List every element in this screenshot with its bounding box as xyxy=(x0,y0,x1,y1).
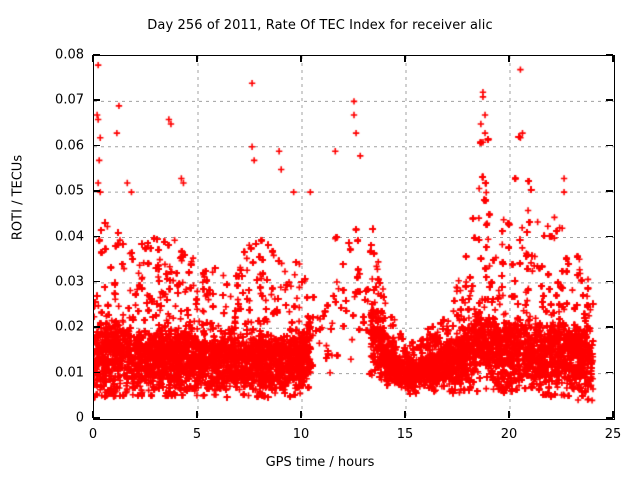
rot-index-scatter-chart: Day 256 of 2011, Rate Of TEC Index for r… xyxy=(0,0,640,480)
y-axis-label: ROTI / TECUs xyxy=(11,118,26,278)
x-tick-label: 15 xyxy=(375,427,435,442)
y-tick-label: 0.07 xyxy=(0,93,84,108)
x-tick-label: 20 xyxy=(479,427,539,442)
plot-area xyxy=(93,55,615,420)
x-axis-label: GPS time / hours xyxy=(0,455,640,470)
x-tick-label: 0 xyxy=(63,427,123,442)
y-tick-label: 0.02 xyxy=(0,320,84,335)
x-tick-label: 25 xyxy=(583,427,640,442)
scatter-points-layer xyxy=(94,56,614,419)
y-tick-label: 0 xyxy=(0,411,84,426)
y-tick-label: 0.01 xyxy=(0,365,84,380)
x-tick-label: 5 xyxy=(167,427,227,442)
x-tick-label: 10 xyxy=(271,427,331,442)
page-title: Day 256 of 2011, Rate Of TEC Index for r… xyxy=(0,18,640,33)
y-tick-label: 0.08 xyxy=(0,48,84,63)
